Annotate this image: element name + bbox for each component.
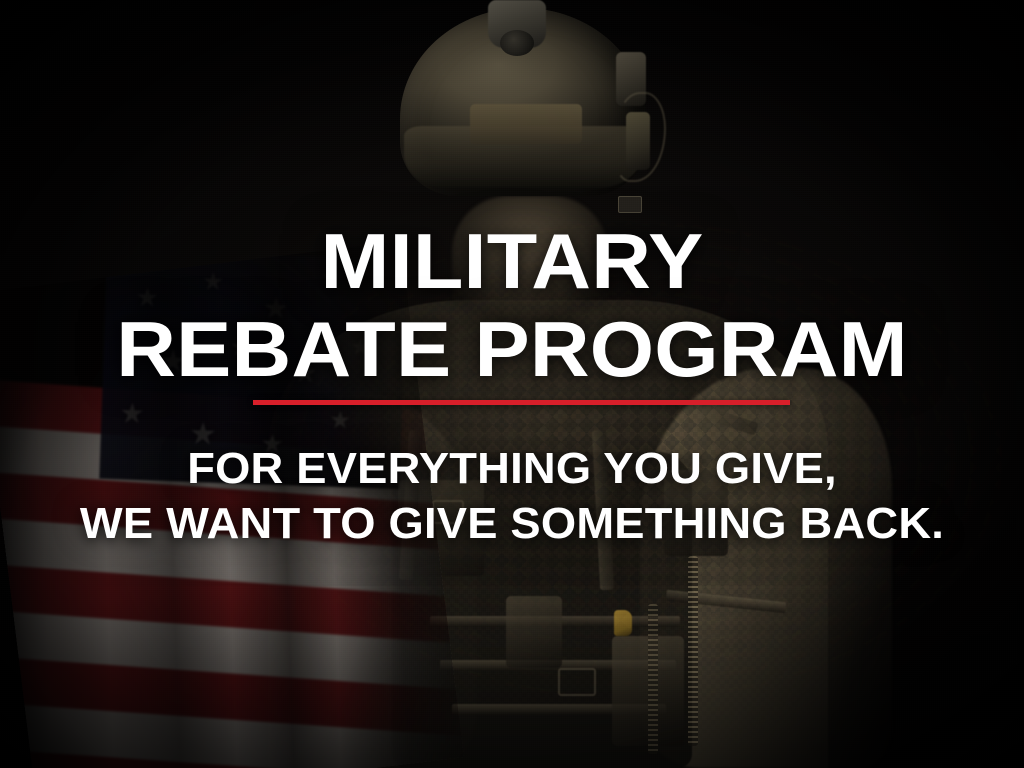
- subheadline-line-2: WE WANT TO GIVE SOMETHING BACK.: [0, 502, 1024, 546]
- military-rebate-poster: ★ ★ ★ ★ ★ ★ ★ ★ ★ ★ ★ ★ MILITARY REBATE …: [0, 0, 1024, 768]
- subheadline-line-1: FOR EVERYTHING YOU GIVE,: [0, 447, 1024, 491]
- poster-text-block: MILITARY REBATE PROGRAM FOR EVERYTHING Y…: [0, 0, 1024, 768]
- headline-line-2: REBATE PROGRAM: [0, 310, 1024, 388]
- red-divider-rule: [253, 400, 790, 405]
- headline-line-1: MILITARY: [0, 222, 1024, 300]
